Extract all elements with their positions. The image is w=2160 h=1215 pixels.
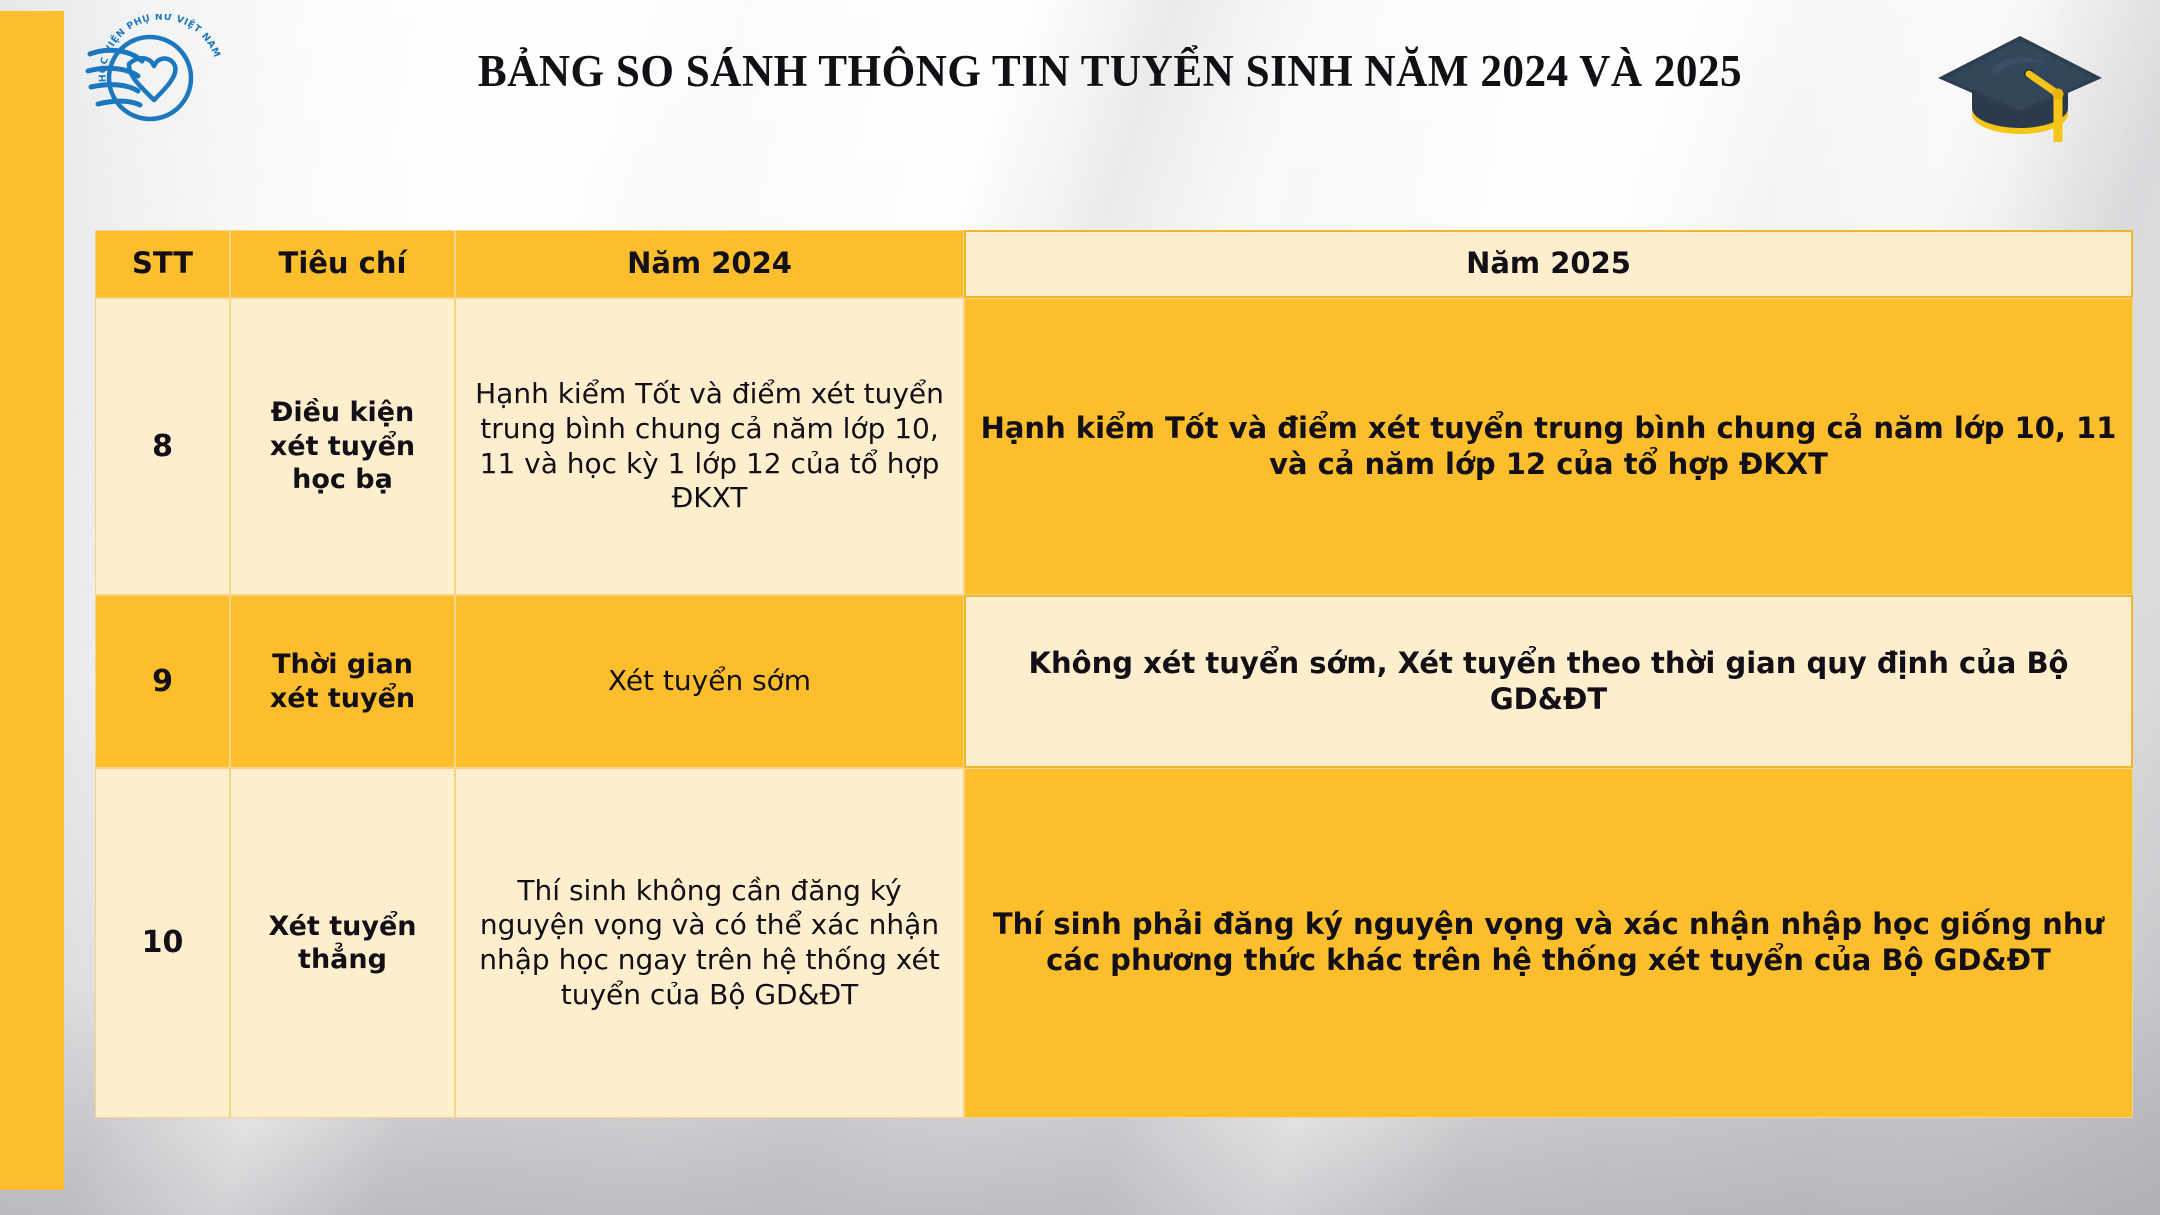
left-accent-bar <box>0 11 64 1190</box>
row-cell-2024: Thí sinh không cần đăng ký nguyện vọng v… <box>455 768 964 1118</box>
slide-canvas: HỌC VIỆN PHỤ NỮ VIỆT NAM BẢNG SO SÁNH TH… <box>0 0 2160 1215</box>
column-header-criteria: Tiêu chí <box>230 230 455 298</box>
row-number: 10 <box>95 768 230 1118</box>
column-header-year-2024: Năm 2024 <box>455 230 964 298</box>
row-number: 8 <box>95 298 230 595</box>
row-criteria: Điều kiện xét tuyển học bạ <box>230 298 455 595</box>
row-cell-2024: Xét tuyển sớm <box>455 595 964 768</box>
column-header-stt: STT <box>95 230 230 298</box>
table-row: 10 Xét tuyển thẳng Thí sinh không cần đă… <box>95 768 2133 1118</box>
row-criteria: Xét tuyển thẳng <box>230 768 455 1118</box>
row-cell-2025: Không xét tuyển sớm, Xét tuyển theo thời… <box>964 595 2133 768</box>
row-number: 9 <box>95 595 230 768</box>
row-criteria: Thời gian xét tuyển <box>230 595 455 768</box>
column-header-year-2025: Năm 2025 <box>964 230 2133 298</box>
table-row: 8 Điều kiện xét tuyển học bạ Hạnh kiểm T… <box>95 298 2133 595</box>
graduation-cap-icon <box>1930 22 2110 142</box>
comparison-table: STT Tiêu chí Năm 2024 Năm 2025 8 Điều ki… <box>95 230 2133 1119</box>
table-row: 9 Thời gian xét tuyển Xét tuyển sớm Khôn… <box>95 595 2133 768</box>
page-title: BẢNG SO SÁNH THÔNG TIN TUYỂN SINH NĂM 20… <box>332 36 1887 106</box>
row-cell-2025: Thí sinh phải đăng ký nguyện vọng và xác… <box>964 768 2133 1118</box>
table-header-row: STT Tiêu chí Năm 2024 Năm 2025 <box>95 230 2133 298</box>
row-cell-2025: Hạnh kiểm Tốt và điểm xét tuyển trung bì… <box>964 298 2133 595</box>
row-cell-2024: Hạnh kiểm Tốt và điểm xét tuyển trung bì… <box>455 298 964 595</box>
university-logo: HỌC VIỆN PHỤ NỮ VIỆT NAM <box>82 14 260 142</box>
